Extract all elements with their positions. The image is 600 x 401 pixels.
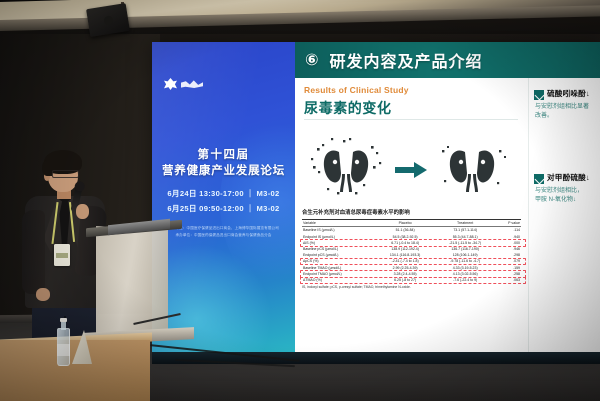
banner-date-line2: 6月25日 09:50-12:00 ｜ M3-02 xyxy=(152,203,295,214)
cell-placebo: 6.25 (-8 to 27) xyxy=(376,277,435,283)
cell-treatment: -21.5 (-11.5 to -34.7) xyxy=(435,240,496,246)
kidney-icon xyxy=(435,136,509,202)
kidney-after-group xyxy=(435,136,509,202)
kidney-diagram xyxy=(295,130,528,208)
slide-header-bar: ⑥ 研发内容及产品介绍 xyxy=(295,42,600,78)
cell-variable: ΔpCS (%) xyxy=(302,258,376,264)
cell-pvalue: .063 xyxy=(496,277,521,283)
callout-body-line1: 与安慰剂组相比显著 xyxy=(535,103,600,112)
kidney-icon xyxy=(309,136,383,202)
speaker-hand-right xyxy=(76,204,89,219)
bottle-label xyxy=(57,344,70,356)
toxin-particles-many xyxy=(311,138,381,194)
cell-treatment: 73.1 (57.1-114) xyxy=(435,227,496,234)
col-placebo: Placebo xyxy=(376,220,435,227)
callout-body-line1: 与安慰剂组相比， xyxy=(535,187,600,196)
callout-body-line2: 甲胺 N-氧化物↓ xyxy=(535,196,600,205)
table-caption: 合生元补充剂对血清总尿毒症毒素水平的影响 xyxy=(302,208,521,216)
cell-placebo: 6.71 (-0.4 to 18.4) xyxy=(376,240,435,246)
table-body: Baseline IS (μmol/L)51.1 (36-84)73.1 (57… xyxy=(302,227,521,283)
lectern xyxy=(96,226,168,338)
table-row: ΔTMAO (%)6.25 (-8 to 27)-7.6 (-22.4 to 9… xyxy=(302,277,521,283)
table-head: Variable Placebo Treatment P value xyxy=(302,220,521,227)
forum-logo-icon xyxy=(164,78,177,90)
event-banner-panel: 第十四届 营养健康产业发展论坛 6月24日 13:30-17:00 ｜ M3-0… xyxy=(152,42,295,354)
table-header-row-top: Variable Placebo Treatment P value xyxy=(302,220,521,227)
cell-variable: ΔTMAO (%) xyxy=(302,277,376,283)
presentation-slide: ⑥ 研发内容及产品介绍 Results of Clinical Study 尿毒… xyxy=(295,42,600,354)
banner-title-line1: 第十四届 xyxy=(152,146,295,162)
speaker-arm-left xyxy=(22,210,45,294)
arrow-right-icon xyxy=(395,162,427,178)
callout-title: 硫酸吲哚酚↓ xyxy=(547,90,590,99)
slide-header-title: 研发内容及产品介绍 xyxy=(320,48,483,72)
cell-placebo: 51.1 (36-84) xyxy=(376,227,435,234)
cell-variable: ΔIS (%) xyxy=(302,240,376,246)
col-variable: Variable xyxy=(302,220,376,227)
cell-treatment: -7.6 (-22.4 to 9) xyxy=(435,277,496,283)
cell-placebo: -2.41 (-7.4 to 1.8) xyxy=(376,258,435,264)
cell-pvalue: .079 xyxy=(496,258,521,264)
slide-side-column: 硫酸吲哚酚↓ 与安慰剂组相比显著 改善。 对甲酚硫酸↓ 与 xyxy=(528,78,600,354)
table-row: ΔpCS (%)-2.41 (-7.4 to 1.8)-9.78 (-11.6 … xyxy=(302,258,521,264)
arrow-down-right-icon xyxy=(534,174,544,184)
callout-body-line2: 改善。 xyxy=(535,112,600,121)
arrow-down-right-icon xyxy=(534,90,544,100)
callout-p-cresyl-sulfate: 对甲酚硫酸↓ 与安慰剂组相比， 甲胺 N-氧化物↓ xyxy=(534,174,600,206)
wood-table xyxy=(0,340,150,401)
water-bottle xyxy=(57,318,70,366)
slide-header-number: ⑥ xyxy=(295,50,320,70)
slide-subtitle-rule xyxy=(304,119,518,120)
speaker-hair-side xyxy=(42,160,52,176)
speaker-hand-left xyxy=(36,288,50,301)
conference-photo-scene: 第十四届 营养健康产业发展论坛 6月24日 13:30-17:00 ｜ M3-0… xyxy=(0,0,600,401)
banner-sponsor-line2: 承办单位：中国医药保健品进出口商会营养与保健食品分会 xyxy=(158,233,289,238)
slide-main-column: Results of Clinical Study 尿毒素的变化 xyxy=(295,78,528,354)
callout-indoxyl-sulfate: 硫酸吲哚酚↓ 与安慰剂组相比显著 改善。 xyxy=(534,90,600,122)
banner-date-line1: 6月24日 13:30-17:00 ｜ M3-02 xyxy=(152,188,295,199)
slide-subtitle-en: Results of Clinical Study xyxy=(304,85,409,95)
eyeglasses-icon xyxy=(52,170,79,178)
callout-head: 硫酸吲哚酚↓ xyxy=(534,90,600,100)
cell-treatment: -9.78 (-11.6 to -4.7) xyxy=(435,258,496,264)
name-badge xyxy=(54,244,70,266)
banner-logo xyxy=(164,78,203,90)
slide-subtitle-cn: 尿毒素的变化 xyxy=(304,98,392,118)
led-wall-screen: 第十四届 营养健康产业发展论坛 6月24日 13:30-17:00 ｜ M3-0… xyxy=(152,42,600,354)
col-pvalue: P value xyxy=(496,220,521,227)
callout-body: 与安慰剂组相比， 甲胺 N-氧化物↓ xyxy=(534,187,600,206)
table-footnote: IS, indoxyl sulfate; pCS, p-cresyl sulfa… xyxy=(302,285,521,289)
slide-body: Results of Clinical Study 尿毒素的变化 xyxy=(295,78,600,354)
forum-wordmark-icon xyxy=(181,80,203,89)
results-table-block: 合生元补充剂对血清总尿毒症毒素水平的影响 Variable Placebo Tr… xyxy=(295,208,528,354)
table-row: Baseline IS (μmol/L)51.1 (36-84)73.1 (57… xyxy=(302,227,521,234)
bottle-neck xyxy=(61,321,66,330)
table-row: ΔIS (%)6.71 (-0.4 to 18.4)-21.5 (-11.5 t… xyxy=(302,240,521,246)
cell-pvalue: .000 xyxy=(496,240,521,246)
bottle-cap xyxy=(60,318,67,322)
callout-head: 对甲酚硫酸↓ xyxy=(534,174,600,184)
results-table: Variable Placebo Treatment P value Basel… xyxy=(302,219,521,283)
callout-body: 与安慰剂组相比显著 改善。 xyxy=(534,103,600,122)
cell-variable: Baseline IS (μmol/L) xyxy=(302,227,376,234)
callout-title: 对甲酚硫酸↓ xyxy=(547,174,590,183)
col-treatment: Treatment xyxy=(435,220,496,227)
transition-arrow xyxy=(395,162,427,178)
cell-pvalue: .114 xyxy=(496,227,521,234)
kidney-before-group xyxy=(309,136,383,202)
banner-title-line2: 营养健康产业发展论坛 xyxy=(152,162,295,178)
